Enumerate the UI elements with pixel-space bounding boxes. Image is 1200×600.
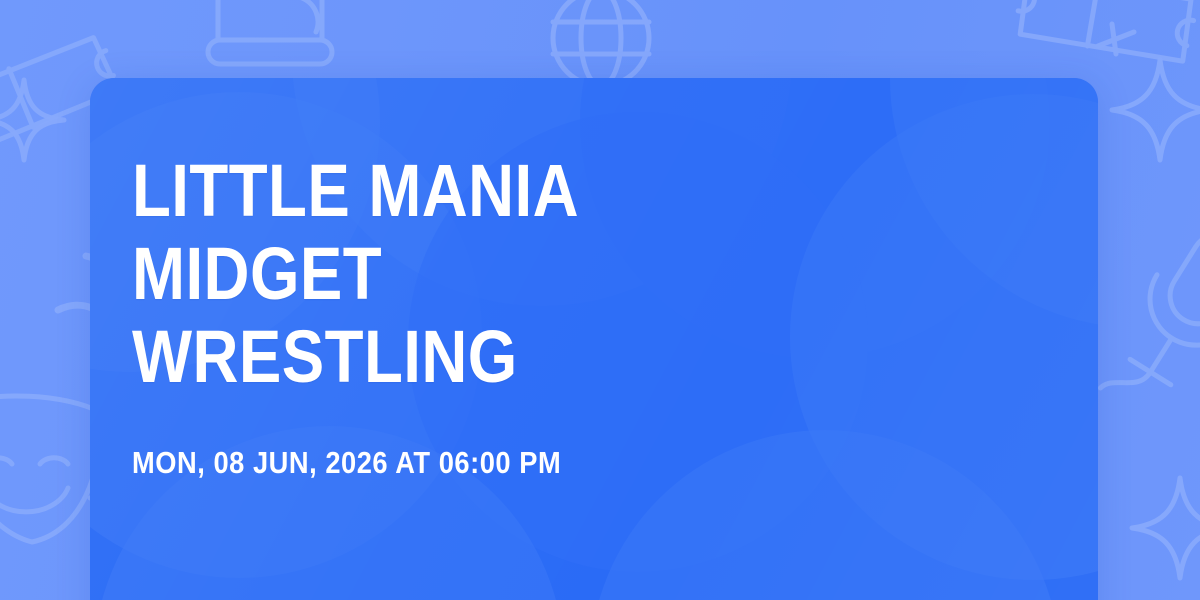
page-title: Little Mania Midget Wrestling <box>132 150 786 399</box>
sparkle-icon <box>1106 52 1200 168</box>
sparkle-icon <box>1126 470 1200 586</box>
event-card[interactable]: Little Mania Midget Wrestling Mon, 08 Ju… <box>90 78 1098 600</box>
sparkle-icon <box>0 70 72 170</box>
event-card-content: Little Mania Midget Wrestling Mon, 08 Ju… <box>132 150 1038 481</box>
sparkle-icon <box>1082 10 1152 70</box>
event-datetime: Mon, 08 Jun, 2026 at 06:00 PM <box>132 445 929 481</box>
stage-icon <box>180 0 360 84</box>
microphone-icon <box>1112 218 1200 428</box>
event-banner-page: Little Mania Midget Wrestling Mon, 08 Ju… <box>0 0 1200 600</box>
